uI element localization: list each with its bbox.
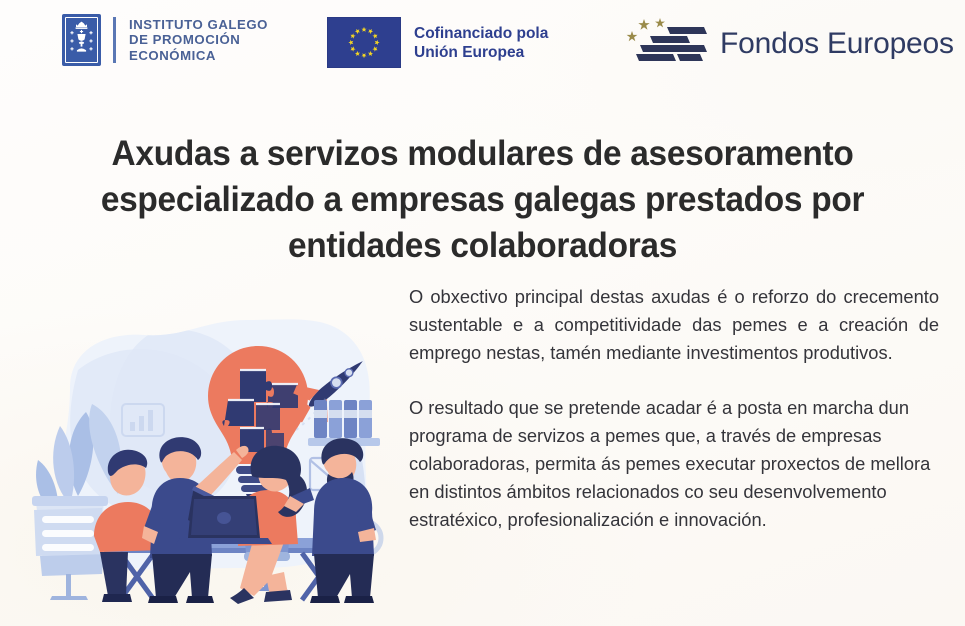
page-title-line1: Axudas a servizos modulares de asesorame… — [60, 131, 905, 177]
page-title: Axudas a servizos modulares de asesorame… — [60, 131, 905, 269]
logo-header: INSTITUTO GALEGO DE PROMOCIÓN ECONÓMICA — [0, 0, 965, 92]
igape-label-line2: DE PROMOCIÓN — [129, 32, 268, 48]
igape-logo: INSTITUTO GALEGO DE PROMOCIÓN ECONÓMICA — [62, 14, 268, 66]
igape-divider — [113, 17, 116, 63]
eu-cofinancing-logo: Cofinanciado pola Unión Europea — [327, 17, 548, 68]
eu-label: Cofinanciado pola Unión Europea — [414, 24, 548, 62]
european-union-flag-icon — [327, 17, 401, 68]
eu-label-line2: Unión Europea — [414, 43, 548, 62]
igape-label: INSTITUTO GALEGO DE PROMOCIÓN ECONÓMICA — [129, 17, 268, 64]
igape-label-line1: INSTITUTO GALEGO — [129, 17, 268, 33]
xunta-de-galicia-coat-of-arms-icon — [62, 14, 101, 66]
page-title-line3: entidades colaboradoras — [60, 223, 905, 269]
paragraph-result: O resultado que se pretende acadar é a p… — [409, 394, 939, 535]
team-collaboration-illustration — [8, 300, 393, 618]
fondos-europeos-logo: Fondos Europeos — [622, 8, 954, 74]
fondos-europeos-label: Fondos Europeos — [720, 27, 954, 61]
paragraph-objective: O obxectivo principal destas axudas é o … — [409, 283, 939, 368]
eu-label-line1: Cofinanciado pola — [414, 24, 548, 43]
igape-label-line3: ECONÓMICA — [129, 48, 268, 64]
poster-page: INSTITUTO GALEGO DE PROMOCIÓN ECONÓMICA — [0, 0, 965, 626]
page-title-line2: especializado a empresas galegas prestad… — [60, 177, 905, 223]
illustration-chair-left — [34, 508, 104, 600]
body-text-column: O obxectivo principal destas axudas é o … — [409, 283, 939, 535]
fondos-europeos-stairs-icon — [622, 8, 714, 74]
